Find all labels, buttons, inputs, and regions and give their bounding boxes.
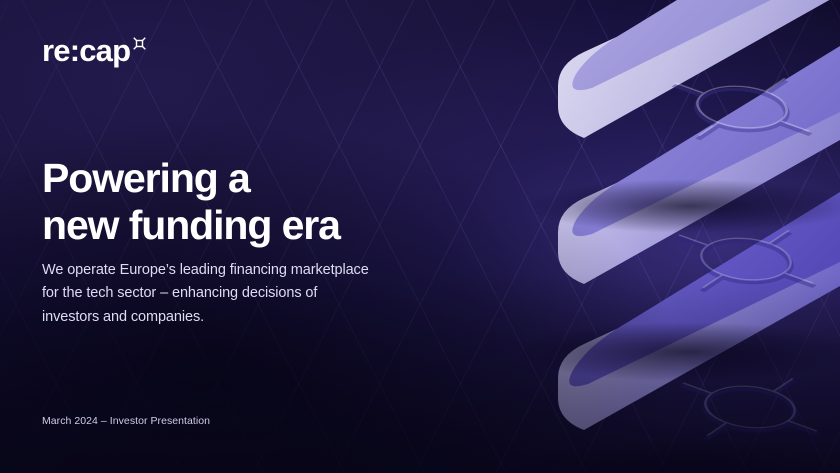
headline-line-1: Powering a — [42, 155, 340, 202]
currency-circle-icon — [642, 358, 840, 462]
subtitle-line-3: investors and companies. — [42, 306, 369, 329]
subtitle-line-2: for the tech sector – enhancing decision… — [42, 282, 369, 305]
currency-square-icon — [132, 36, 147, 55]
slide-footer-note: March 2024 – Investor Presentation — [42, 415, 210, 427]
currency-circle-icon — [638, 210, 840, 314]
page-title: Powering a new funding era — [42, 155, 340, 248]
currency-circle-icon — [634, 58, 840, 162]
subtitle-line-1: We operate Europe’s leading financing ma… — [42, 259, 369, 282]
presentation-slide: re:cap Powering a new funding era We ope… — [0, 0, 840, 473]
recap-logo[interactable]: re:cap — [42, 35, 147, 66]
card-middle — [516, 46, 840, 382]
headline-line-2: new funding era — [42, 202, 340, 249]
card-top — [525, 0, 840, 233]
card-bottom — [510, 192, 840, 473]
subtitle: We operate Europe’s leading financing ma… — [42, 259, 369, 329]
stacked-cards-illustration — [510, 0, 840, 473]
logo-wordmark: re:cap — [42, 35, 130, 66]
